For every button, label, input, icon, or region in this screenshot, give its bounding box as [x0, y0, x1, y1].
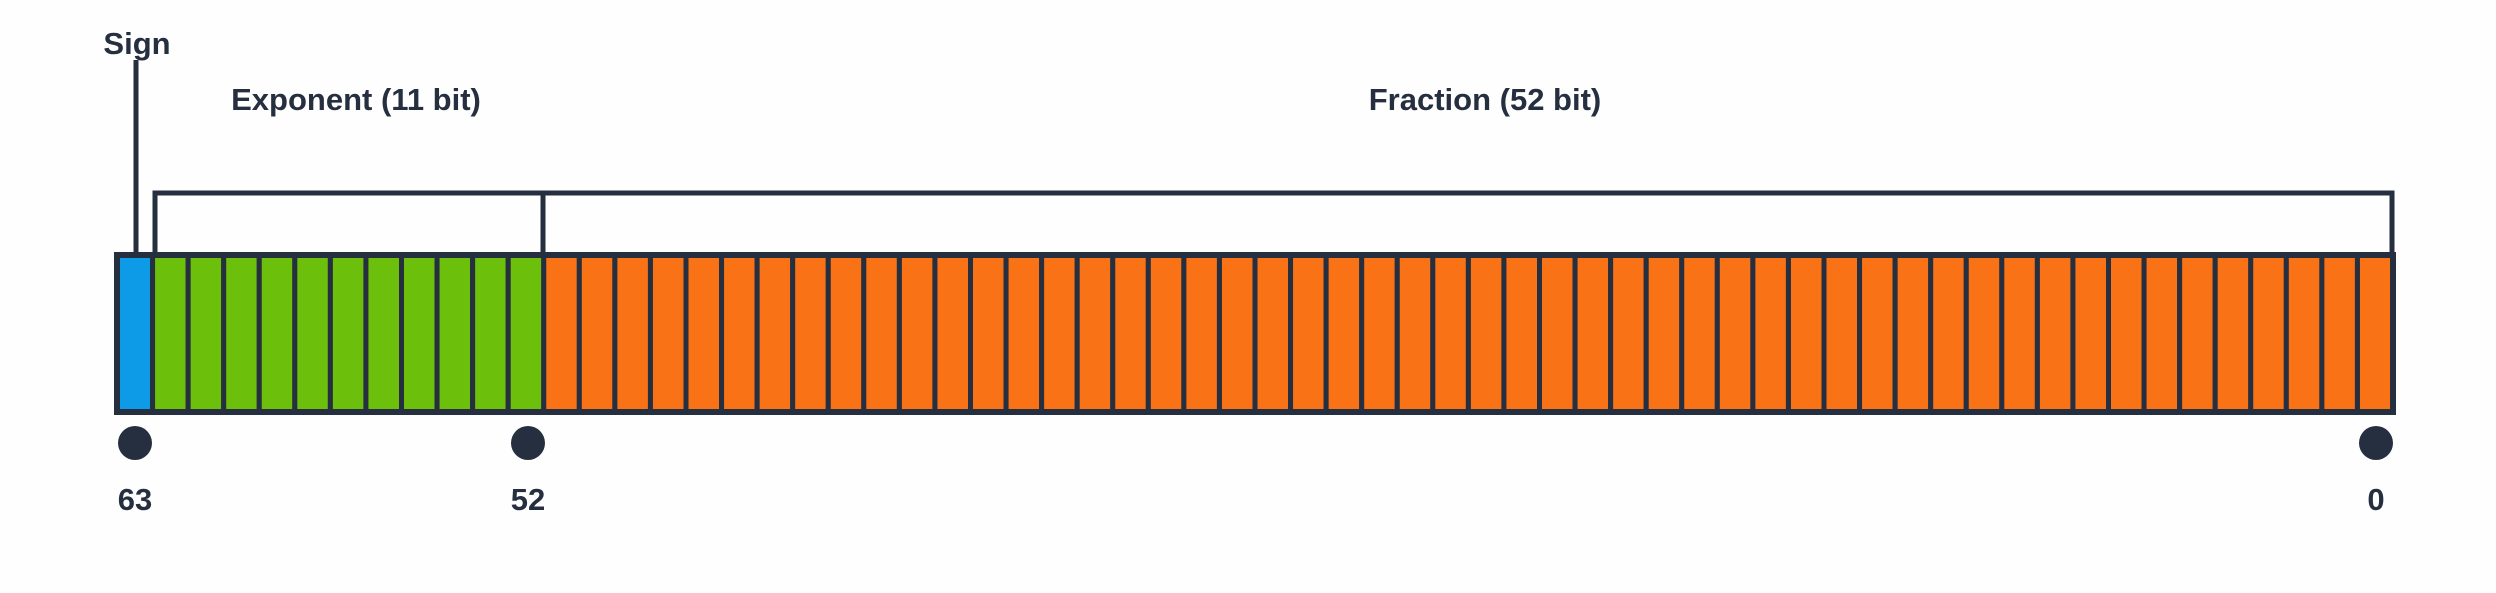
bit-cell-fraction: [544, 255, 580, 412]
bit-cell-exponent: [508, 255, 544, 412]
bit-cell-fraction: [1611, 255, 1647, 412]
bit-cell-fraction: [1042, 255, 1078, 412]
bit-cell-fraction: [899, 255, 935, 412]
bit-cell-fraction: [686, 255, 722, 412]
bit-cell-fraction: [1860, 255, 1896, 412]
bit-cell-exponent: [437, 255, 473, 412]
bit-cell-fraction: [828, 255, 864, 412]
bit-cell-fraction: [2215, 255, 2251, 412]
bit-63-label: 63: [118, 482, 152, 517]
bit-0-dot-icon: [2359, 426, 2393, 460]
bit-cell-fraction: [793, 255, 829, 412]
bit-cell-fraction: [1291, 255, 1327, 412]
bit-cell-fraction: [2037, 255, 2073, 412]
bit-cell-fraction: [1006, 255, 1042, 412]
bit-cell-fraction: [1468, 255, 1504, 412]
bit-cell-fraction: [2251, 255, 2287, 412]
bit-cell-fraction: [935, 255, 971, 412]
bit-52-label: 52: [511, 482, 545, 517]
bit-0-label: 0: [2367, 482, 2384, 517]
bit-cell-fraction: [1255, 255, 1291, 412]
bit-cell-fraction: [1326, 255, 1362, 412]
sign-field-label: Sign: [103, 26, 170, 61]
bit-cell-fraction: [1540, 255, 1576, 412]
bit-cell-exponent: [259, 255, 295, 412]
bit-cell-fraction: [1788, 255, 1824, 412]
exponent-field-label: Exponent (11 bit): [231, 82, 481, 117]
bit-cell-fraction: [1077, 255, 1113, 412]
bit-cell-exponent: [295, 255, 331, 412]
bit-cell-fraction: [1504, 255, 1540, 412]
bit-cell-fraction: [1824, 255, 1860, 412]
exponent-bracket: [155, 193, 543, 255]
bit-cell-fraction: [2073, 255, 2109, 412]
bit-cell-exponent: [153, 255, 189, 412]
bit-layout-canvas: 63520 Sign Exponent (11 bit) Fraction (5…: [0, 0, 2496, 593]
bit-cell-fraction: [2286, 255, 2322, 412]
bit-cell-fraction: [1362, 255, 1398, 412]
bit-cell-fraction: [1753, 255, 1789, 412]
bit-marker-group: 63520: [118, 426, 2393, 517]
bit-63-dot-icon: [118, 426, 152, 460]
bit-cell-fraction: [615, 255, 651, 412]
bit-cell-exponent: [188, 255, 224, 412]
bit-cell-sign: [117, 255, 153, 412]
bit-cell-fraction: [2357, 255, 2393, 412]
bit-cell-exponent: [224, 255, 260, 412]
bit-52-dot-icon: [511, 426, 545, 460]
bit-cell-group: [117, 255, 2393, 412]
bit-cell-fraction: [1646, 255, 1682, 412]
bit-cell-exponent: [402, 255, 438, 412]
bit-cell-fraction: [579, 255, 615, 412]
bit-cell-fraction: [2180, 255, 2216, 412]
bit-cell-fraction: [1219, 255, 1255, 412]
bit-cell-exponent: [473, 255, 509, 412]
bit-cell-fraction: [650, 255, 686, 412]
bit-cell-fraction: [1966, 255, 2002, 412]
bit-cell-exponent: [366, 255, 402, 412]
bit-cell-fraction: [971, 255, 1007, 412]
bit-cell-fraction: [757, 255, 793, 412]
bit-cell-fraction: [1433, 255, 1469, 412]
bit-cell-fraction: [1931, 255, 1967, 412]
float64-bit-layout-diagram: 63520 Sign Exponent (11 bit) Fraction (5…: [0, 0, 2496, 593]
bit-cell-fraction: [2109, 255, 2145, 412]
bit-cell-fraction: [1397, 255, 1433, 412]
bit-cell-fraction: [1717, 255, 1753, 412]
fraction-bracket: [543, 193, 2392, 255]
bit-cell-fraction: [1184, 255, 1220, 412]
bit-cell-fraction: [722, 255, 758, 412]
bit-cell-fraction: [1682, 255, 1718, 412]
bit-cell-fraction: [864, 255, 900, 412]
bit-cell-fraction: [2322, 255, 2358, 412]
fraction-field-label: Fraction (52 bit): [1369, 82, 1602, 117]
bit-cell-exponent: [330, 255, 366, 412]
bit-cell-fraction: [1895, 255, 1931, 412]
bit-cell-fraction: [1113, 255, 1149, 412]
bit-cell-fraction: [1148, 255, 1184, 412]
bit-cell-fraction: [1575, 255, 1611, 412]
bit-cell-fraction: [2144, 255, 2180, 412]
bit-cell-fraction: [2002, 255, 2038, 412]
